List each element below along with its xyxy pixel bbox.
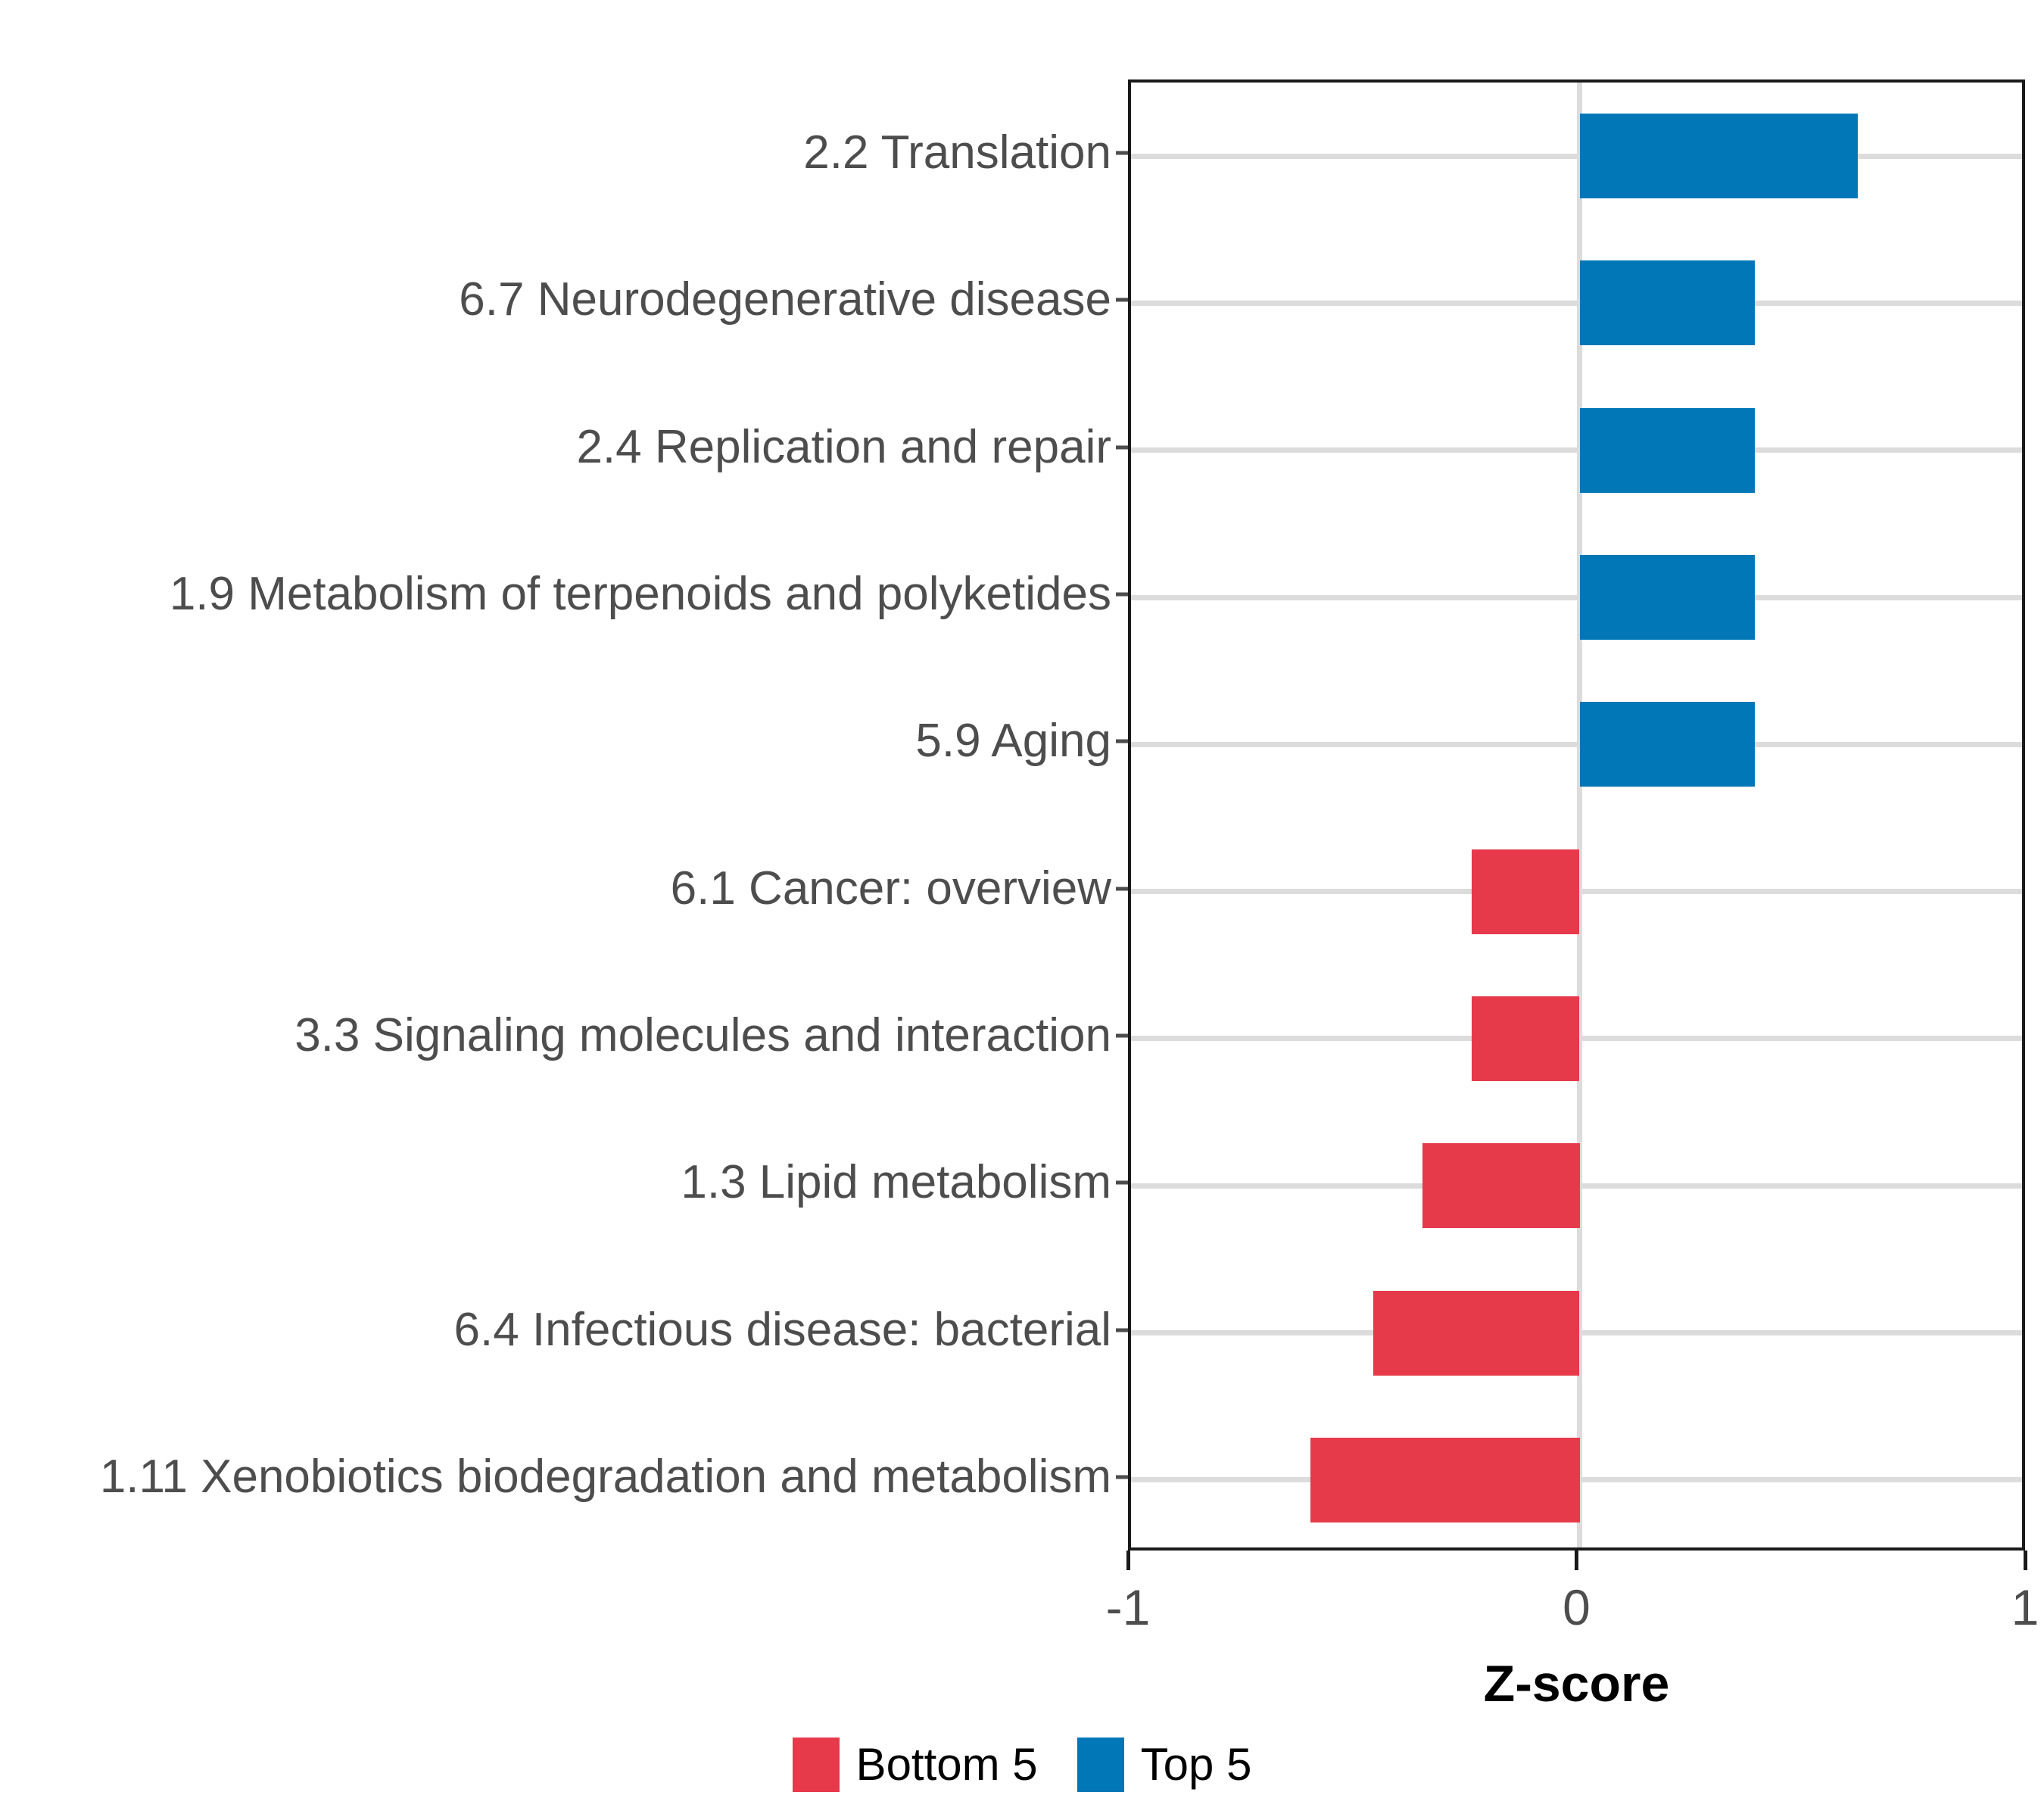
y-axis-tick — [1116, 1328, 1128, 1332]
y-axis-tick — [1116, 1475, 1128, 1479]
x-axis-tick — [2024, 1551, 2027, 1570]
y-axis-tick-label: 3.3 Signaling molecules and interaction — [294, 1012, 1111, 1059]
legend-swatch-icon — [793, 1738, 840, 1792]
y-axis-tick — [1116, 151, 1128, 155]
legend-item[interactable]: Bottom 5 — [793, 1738, 1038, 1792]
y-axis-tick — [1116, 593, 1128, 597]
y-axis-tick-label: 6.7 Neurodegenerative disease — [459, 276, 1111, 323]
bar — [1422, 1143, 1579, 1228]
plot-area — [1128, 79, 2025, 1551]
chart-figure: 2.2 Translation6.7 Neurodegenerative dis… — [0, 0, 2044, 1817]
legend-label: Top 5 — [1141, 1742, 1252, 1787]
y-gridline — [1131, 301, 2022, 306]
bar — [1580, 260, 1755, 345]
y-axis-tick-label: 2.2 Translation — [803, 129, 1111, 176]
y-axis-tick-label: 6.1 Cancer: overview — [671, 865, 1111, 912]
y-gridline — [1131, 742, 2022, 747]
legend-item[interactable]: Top 5 — [1077, 1738, 1252, 1792]
chart-legend: Bottom 5Top 5 — [0, 1738, 2044, 1792]
y-axis-tick-label: 1.3 Lipid metabolism — [681, 1159, 1111, 1206]
x-axis-tick — [1575, 1551, 1578, 1570]
bar — [1580, 408, 1755, 493]
bar — [1580, 114, 1858, 198]
y-axis-tick — [1116, 445, 1128, 449]
y-axis-tick — [1116, 887, 1128, 890]
x-axis-tick-label: 1 — [2011, 1582, 2039, 1632]
y-gridline — [1131, 447, 2022, 453]
x-axis-title: Z-score — [1484, 1655, 1670, 1713]
bar — [1580, 702, 1755, 787]
x-axis-tick-label: 0 — [1563, 1582, 1591, 1632]
x-axis-title-wrap: Z-score — [1128, 1654, 2025, 1713]
x-axis-tick — [1126, 1551, 1130, 1570]
legend-label: Bottom 5 — [856, 1742, 1038, 1787]
bar — [1580, 555, 1755, 640]
bar — [1373, 1291, 1580, 1376]
y-gridline — [1131, 154, 2022, 159]
y-axis-tick — [1116, 298, 1128, 302]
y-axis-tick — [1116, 1181, 1128, 1185]
bar — [1310, 1438, 1580, 1522]
bar — [1472, 996, 1579, 1081]
y-axis-tick-label: 1.9 Metabolism of terpenoids and polyket… — [170, 571, 1111, 618]
x-axis-tick-label: -1 — [1106, 1582, 1151, 1632]
y-axis-tick — [1116, 1033, 1128, 1037]
y-axis-tick-label: 6.4 Infectious disease: bacterial — [453, 1307, 1111, 1354]
y-axis-tick-label: 5.9 Aging — [915, 718, 1111, 765]
y-axis-tick-label: 1.11 Xenobiotics biodegradation and meta… — [100, 1454, 1111, 1501]
legend-swatch-icon — [1077, 1738, 1124, 1792]
y-gridline — [1131, 595, 2022, 600]
bar — [1472, 849, 1579, 934]
y-axis-tick — [1116, 740, 1128, 743]
y-axis-tick-label: 2.4 Replication and repair — [576, 424, 1111, 471]
